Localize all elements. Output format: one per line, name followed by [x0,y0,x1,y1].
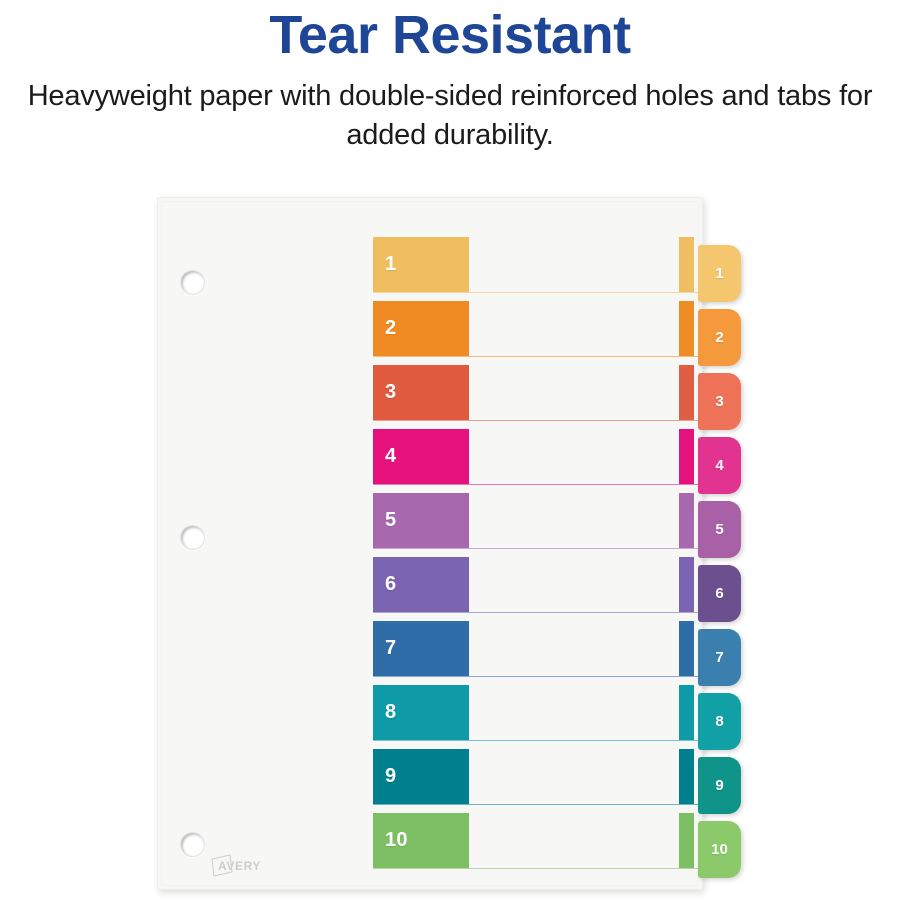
divider-edge-strip [679,749,694,804]
divider-row: 11 [158,237,702,301]
divider-index-band: 10 [373,813,469,868]
divider-edge-strip [679,301,694,356]
divider-index-band: 1 [373,237,469,292]
divider-row: 33 [158,365,702,429]
divider-tab-number: 1 [715,265,723,282]
page-subtitle: Heavyweight paper with double-sided rein… [0,65,900,154]
divider-index-band: 6 [373,557,469,612]
divider-tab: 7 [698,629,741,686]
divider-band-number: 4 [385,445,396,468]
divider-sheet-rule [373,548,702,549]
divider-row: 66 [158,557,702,621]
divider-index-band: 9 [373,749,469,804]
divider-sheet-stack: 1122334455667788991010 AVERY [157,197,703,890]
divider-tab-number: 9 [715,777,723,794]
divider-tab: 6 [698,565,741,622]
divider-row: 22 [158,301,702,365]
divider-tab-number: 6 [715,585,723,602]
divider-tab: 5 [698,501,741,558]
divider-band-number: 3 [385,381,396,404]
divider-band-number: 9 [385,765,396,788]
page-title: Tear Resistant [0,0,900,65]
divider-rows: 1122334455667788991010 [158,198,702,889]
divider-band-number: 2 [385,317,396,340]
svg-text:AVERY: AVERY [218,859,261,873]
divider-tab-number: 5 [715,521,723,538]
divider-tab: 4 [698,437,741,494]
divider-band-number: 7 [385,637,396,660]
divider-sheet-rule [373,740,702,741]
divider-edge-strip [679,557,694,612]
divider-index-band: 8 [373,685,469,740]
product-image: 1122334455667788991010 AVERY [0,180,900,900]
divider-edge-strip [679,813,694,868]
divider-edge-strip [679,685,694,740]
divider-band-number: 1 [385,253,396,276]
divider-sheet-rule [373,868,702,869]
divider-band-number: 8 [385,701,396,724]
divider-tab-number: 3 [715,393,723,410]
divider-tab: 8 [698,693,741,750]
divider-index-band: 3 [373,365,469,420]
divider-tab-number: 8 [715,713,723,730]
divider-sheet-rule [373,292,702,293]
divider-tab: 1 [698,245,741,302]
divider-tab-number: 4 [715,457,723,474]
divider-sheet-rule [373,804,702,805]
divider-row: 55 [158,493,702,557]
divider-tab: 9 [698,757,741,814]
divider-index-band: 7 [373,621,469,676]
divider-sheet-rule [373,676,702,677]
divider-edge-strip [679,621,694,676]
divider-row: 88 [158,685,702,749]
divider-row: 44 [158,429,702,493]
divider-band-number: 10 [385,829,408,852]
divider-index-band: 5 [373,493,469,548]
divider-index-band: 2 [373,301,469,356]
divider-edge-strip [679,493,694,548]
avery-logo: AVERY [208,853,286,879]
divider-edge-strip [679,365,694,420]
divider-band-number: 6 [385,573,396,596]
divider-tab-number: 10 [711,841,728,858]
divider-edge-strip [679,429,694,484]
divider-index-band: 4 [373,429,469,484]
divider-sheet-rule [373,356,702,357]
divider-tab: 10 [698,821,741,878]
divider-sheet-rule [373,484,702,485]
divider-edge-strip [679,237,694,292]
divider-tab: 3 [698,373,741,430]
divider-row: 77 [158,621,702,685]
divider-band-number: 5 [385,509,396,532]
divider-sheet-rule [373,420,702,421]
divider-row: 99 [158,749,702,813]
divider-tab-number: 2 [715,329,723,346]
divider-sheet-rule [373,612,702,613]
divider-tab-number: 7 [715,649,723,666]
divider-tab: 2 [698,309,741,366]
marketing-copy-block: Tear Resistant Heavyweight paper with do… [0,0,900,154]
